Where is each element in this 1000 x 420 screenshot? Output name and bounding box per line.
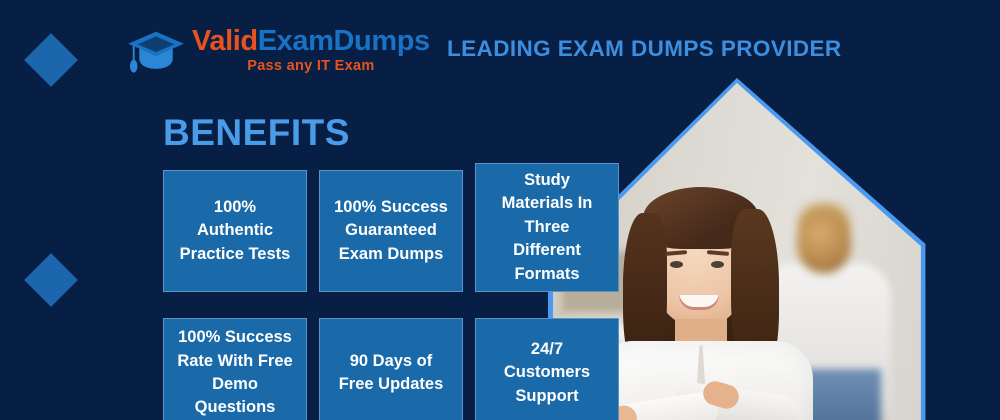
brand-logo[interactable]: ValidExamDumps Pass any IT Exam [126, 26, 430, 80]
brand-name-examdumps: ExamDumps [258, 25, 430, 57]
header-title: LEADING EXAM DUMPS PROVIDER [447, 36, 842, 62]
page-header: ValidExamDumps Pass any IT Exam LEADING … [0, 0, 1000, 96]
benefit-card[interactable]: 24/7 Customers Support [475, 318, 619, 420]
benefit-card[interactable]: Study Materials In Three Different Forma… [475, 163, 619, 292]
woman-eye-left [670, 261, 683, 268]
photo-image [553, 83, 995, 420]
benefit-card[interactable]: 100% Authentic Practice Tests [163, 170, 307, 292]
benefit-card[interactable]: 100% Success Guaranteed Exam Dumps [319, 170, 463, 292]
diamond-decoration-bottom [24, 253, 78, 307]
brand-tagline: Pass any IT Exam [192, 58, 430, 74]
page-title: BENEFITS [163, 112, 350, 154]
benefit-card[interactable]: 90 Days of Free Updates [319, 318, 463, 420]
poster-canvas: ValidExamDumps Pass any IT Exam LEADING … [0, 0, 1000, 420]
brand-name-valid: Valid [192, 25, 258, 57]
brand-wordmark: ValidExamDumps Pass any IT Exam [192, 26, 430, 74]
background-person-head [797, 211, 851, 273]
graduation-cap-icon [126, 28, 186, 80]
woman-eye-right [711, 261, 724, 268]
benefit-card[interactable]: 100% Success Rate With Free Demo Questio… [163, 318, 307, 420]
brand-name: ValidExamDumps [192, 26, 430, 56]
